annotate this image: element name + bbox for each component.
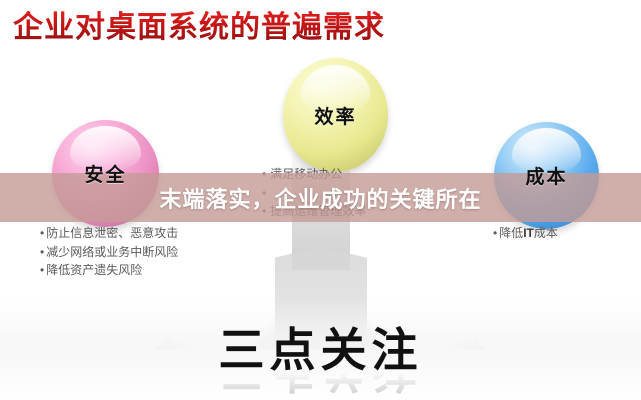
sphere-cost-label: 成本 [525, 162, 567, 189]
bullet-item: 防止信息泄密、恶意攻击 [40, 224, 178, 243]
footer-block: 三点关注 三点关注 [0, 326, 641, 394]
sphere-efficiency-label: 效率 [314, 102, 356, 129]
bullet-text-strong: IT [523, 226, 534, 240]
bullet-item: 减少网络或业务中断风险 [40, 243, 178, 262]
caption-banner-text: 末端落实，企业成功的关键所在 [159, 182, 481, 214]
slide-canvas: 企业对桌面系统的普遍需求 安全 效率 成本 防止信息泄密、恶意攻击 减少网络或业… [0, 0, 641, 400]
bullet-list-cost: 降低IT成本 [493, 224, 558, 243]
page-title: 企业对桌面系统的普遍需求 [13, 11, 385, 46]
sphere-security-label: 安全 [84, 160, 126, 187]
bullet-item: 降低IT成本 [493, 224, 558, 243]
bullet-text-suffix: 成本 [534, 226, 558, 240]
bullet-list-security: 防止信息泄密、恶意攻击 减少网络或业务中断风险 降低资产遗失风险 [40, 224, 178, 280]
sphere-efficiency: 效率 [283, 58, 388, 172]
bullet-item: 降低资产遗失风险 [40, 261, 178, 280]
footer-headline-reflection: 三点关注 [0, 368, 641, 394]
bullet-text-prefix: 降低 [499, 226, 523, 240]
